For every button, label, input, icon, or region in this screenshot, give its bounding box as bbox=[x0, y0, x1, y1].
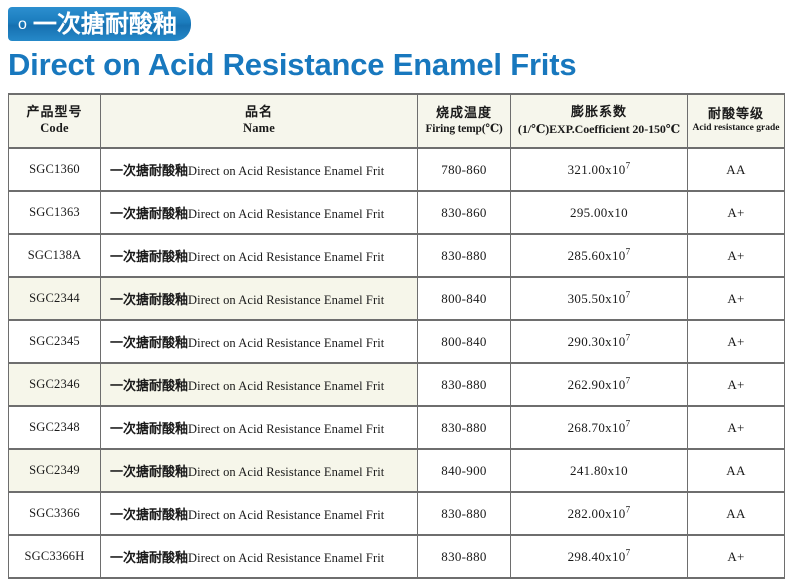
column-header-acid-grade-en: Acid resistance grade bbox=[689, 123, 783, 135]
cell-exp-coefficient: 298.40x107 bbox=[511, 535, 688, 578]
cell-exp-base: 298.40x10 bbox=[568, 549, 626, 564]
cell-name-en: Direct on Acid Resistance Enamel Frit bbox=[188, 422, 384, 436]
bullet-marker-icon: o bbox=[18, 17, 27, 33]
column-header-name: 品名 Name bbox=[101, 94, 418, 148]
table-row: SGC2348一次搪耐酸釉Direct on Acid Resistance E… bbox=[9, 406, 785, 449]
column-header-code: 产品型号 Code bbox=[9, 94, 101, 148]
english-title-text: Direct on Acid Resistance Enamel Frits bbox=[8, 46, 576, 84]
cell-firing-temp: 840-900 bbox=[418, 449, 511, 492]
cell-exp-superscript: 7 bbox=[626, 332, 631, 342]
cell-name: 一次搪耐酸釉Direct on Acid Resistance Enamel F… bbox=[101, 363, 418, 406]
column-header-exp-coefficient-en: (1/℃)EXP.Coefficient 20-150℃ bbox=[512, 122, 686, 137]
cell-firing-temp: 830-880 bbox=[418, 535, 511, 578]
column-header-acid-grade-cn: 耐酸等级 bbox=[689, 107, 783, 123]
cell-exp-base: 268.70x10 bbox=[568, 420, 626, 435]
cell-acid-grade: A+ bbox=[688, 277, 785, 320]
cell-name-cn: 一次搪耐酸釉 bbox=[110, 164, 188, 179]
cell-exp-base: 305.50x10 bbox=[568, 291, 626, 306]
cell-exp-base: 321.00x10 bbox=[568, 162, 626, 177]
cell-name-en: Direct on Acid Resistance Enamel Frit bbox=[188, 465, 384, 479]
column-header-acid-grade: 耐酸等级 Acid resistance grade bbox=[688, 94, 785, 148]
table-row: SGC2349一次搪耐酸釉Direct on Acid Resistance E… bbox=[9, 449, 785, 492]
cell-exp-superscript: 7 bbox=[626, 547, 631, 557]
cell-exp-coefficient: 285.60x107 bbox=[511, 234, 688, 277]
cell-name-cn: 一次搪耐酸釉 bbox=[110, 336, 188, 351]
column-header-exp-coefficient: 膨胀系数 (1/℃)EXP.Coefficient 20-150℃ bbox=[511, 94, 688, 148]
cell-acid-grade: A+ bbox=[688, 363, 785, 406]
cell-name-en: Direct on Acid Resistance Enamel Frit bbox=[188, 207, 384, 221]
cell-name-cn: 一次搪耐酸釉 bbox=[110, 551, 188, 566]
cell-exp-coefficient: 305.50x107 bbox=[511, 277, 688, 320]
cell-name-cn: 一次搪耐酸釉 bbox=[110, 465, 188, 480]
table-row: SGC138A一次搪耐酸釉Direct on Acid Resistance E… bbox=[9, 234, 785, 277]
cell-exp-base: 241.80x10 bbox=[570, 463, 628, 478]
cell-exp-base: 262.90x10 bbox=[568, 377, 626, 392]
column-header-name-en: Name bbox=[102, 121, 416, 137]
cell-exp-superscript: 7 bbox=[626, 246, 631, 256]
cell-exp-base: 282.00x10 bbox=[568, 506, 626, 521]
cell-code: SGC2349 bbox=[9, 449, 101, 492]
cell-exp-coefficient: 290.30x107 bbox=[511, 320, 688, 363]
cell-name-en: Direct on Acid Resistance Enamel Frit bbox=[188, 164, 384, 178]
cell-exp-base: 290.30x10 bbox=[568, 334, 626, 349]
cell-firing-temp: 780-860 bbox=[418, 148, 511, 191]
cell-name: 一次搪耐酸釉Direct on Acid Resistance Enamel F… bbox=[101, 277, 418, 320]
table-row: SGC2344一次搪耐酸釉Direct on Acid Resistance E… bbox=[9, 277, 785, 320]
cell-name-cn: 一次搪耐酸釉 bbox=[110, 293, 188, 308]
cell-firing-temp: 800-840 bbox=[418, 320, 511, 363]
column-header-code-cn: 产品型号 bbox=[10, 105, 99, 121]
cell-exp-superscript: 7 bbox=[626, 289, 631, 299]
product-spec-table: 产品型号 Code 品名 Name 烧成温度 Firing temp(℃) 膨胀… bbox=[8, 93, 785, 579]
cell-exp-superscript: 7 bbox=[626, 160, 631, 170]
cell-code: SGC3366 bbox=[9, 492, 101, 535]
cell-name-en: Direct on Acid Resistance Enamel Frit bbox=[188, 336, 384, 350]
chinese-title-banner: o 一次搪耐酸釉 bbox=[8, 7, 191, 41]
table-row: SGC2346一次搪耐酸釉Direct on Acid Resistance E… bbox=[9, 363, 785, 406]
cell-name-cn: 一次搪耐酸釉 bbox=[110, 250, 188, 265]
cell-name: 一次搪耐酸釉Direct on Acid Resistance Enamel F… bbox=[101, 320, 418, 363]
cell-name-en: Direct on Acid Resistance Enamel Frit bbox=[188, 250, 384, 264]
table-row: SGC2345一次搪耐酸釉Direct on Acid Resistance E… bbox=[9, 320, 785, 363]
cell-code: SGC138A bbox=[9, 234, 101, 277]
cell-exp-superscript: 7 bbox=[626, 375, 631, 385]
cell-firing-temp: 830-880 bbox=[418, 234, 511, 277]
cell-exp-base: 285.60x10 bbox=[568, 248, 626, 263]
cell-firing-temp: 830-880 bbox=[418, 406, 511, 449]
cell-acid-grade: A+ bbox=[688, 191, 785, 234]
cell-name: 一次搪耐酸釉Direct on Acid Resistance Enamel F… bbox=[101, 492, 418, 535]
cell-name-cn: 一次搪耐酸釉 bbox=[110, 207, 188, 222]
cell-acid-grade: A+ bbox=[688, 406, 785, 449]
cell-exp-superscript: 7 bbox=[626, 418, 631, 428]
cell-exp-coefficient: 268.70x107 bbox=[511, 406, 688, 449]
column-header-firing-temp-cn: 烧成温度 bbox=[419, 106, 509, 122]
cell-acid-grade: A+ bbox=[688, 234, 785, 277]
cell-name-en: Direct on Acid Resistance Enamel Frit bbox=[188, 551, 384, 565]
column-header-exp-coefficient-cn: 膨胀系数 bbox=[512, 105, 686, 121]
table-row: SGC3366一次搪耐酸釉Direct on Acid Resistance E… bbox=[9, 492, 785, 535]
cell-name: 一次搪耐酸釉Direct on Acid Resistance Enamel F… bbox=[101, 191, 418, 234]
cell-name-en: Direct on Acid Resistance Enamel Frit bbox=[188, 293, 384, 307]
cell-exp-coefficient: 321.00x107 bbox=[511, 148, 688, 191]
table-header-row: 产品型号 Code 品名 Name 烧成温度 Firing temp(℃) 膨胀… bbox=[9, 94, 785, 148]
cell-name-en: Direct on Acid Resistance Enamel Frit bbox=[188, 508, 384, 522]
cell-code: SGC2345 bbox=[9, 320, 101, 363]
cell-name-cn: 一次搪耐酸釉 bbox=[110, 422, 188, 437]
cell-name: 一次搪耐酸釉Direct on Acid Resistance Enamel F… bbox=[101, 406, 418, 449]
cell-acid-grade: A+ bbox=[688, 320, 785, 363]
cell-code: SGC2346 bbox=[9, 363, 101, 406]
cell-name: 一次搪耐酸釉Direct on Acid Resistance Enamel F… bbox=[101, 148, 418, 191]
cell-firing-temp: 830-880 bbox=[418, 363, 511, 406]
cell-name-cn: 一次搪耐酸釉 bbox=[110, 508, 188, 523]
table-row: SGC3366H一次搪耐酸釉Direct on Acid Resistance … bbox=[9, 535, 785, 578]
cell-code: SGC1363 bbox=[9, 191, 101, 234]
column-header-firing-temp: 烧成温度 Firing temp(℃) bbox=[418, 94, 511, 148]
cell-acid-grade: AA bbox=[688, 148, 785, 191]
column-header-code-en: Code bbox=[10, 121, 99, 137]
table-body: SGC1360一次搪耐酸釉Direct on Acid Resistance E… bbox=[9, 148, 785, 578]
cell-code: SGC3366H bbox=[9, 535, 101, 578]
cell-acid-grade: AA bbox=[688, 492, 785, 535]
cell-name: 一次搪耐酸釉Direct on Acid Resistance Enamel F… bbox=[101, 449, 418, 492]
cell-code: SGC2344 bbox=[9, 277, 101, 320]
column-header-firing-temp-en: Firing temp(℃) bbox=[419, 122, 509, 136]
cell-exp-coefficient: 295.00x10 bbox=[511, 191, 688, 234]
cell-firing-temp: 800-840 bbox=[418, 277, 511, 320]
cell-exp-coefficient: 282.00x107 bbox=[511, 492, 688, 535]
cell-exp-base: 295.00x10 bbox=[570, 205, 628, 220]
cell-code: SGC1360 bbox=[9, 148, 101, 191]
cell-name: 一次搪耐酸釉Direct on Acid Resistance Enamel F… bbox=[101, 535, 418, 578]
table-row: SGC1360一次搪耐酸釉Direct on Acid Resistance E… bbox=[9, 148, 785, 191]
column-header-name-cn: 品名 bbox=[102, 105, 416, 121]
cell-firing-temp: 830-860 bbox=[418, 191, 511, 234]
cell-exp-coefficient: 262.90x107 bbox=[511, 363, 688, 406]
cell-name: 一次搪耐酸釉Direct on Acid Resistance Enamel F… bbox=[101, 234, 418, 277]
cell-code: SGC2348 bbox=[9, 406, 101, 449]
cell-exp-superscript: 7 bbox=[626, 504, 631, 514]
chinese-title-text: 一次搪耐酸釉 bbox=[33, 12, 177, 36]
cell-name-cn: 一次搪耐酸釉 bbox=[110, 379, 188, 394]
cell-name-en: Direct on Acid Resistance Enamel Frit bbox=[188, 379, 384, 393]
table-row: SGC1363一次搪耐酸釉Direct on Acid Resistance E… bbox=[9, 191, 785, 234]
table-header: 产品型号 Code 品名 Name 烧成温度 Firing temp(℃) 膨胀… bbox=[9, 94, 785, 148]
cell-acid-grade: AA bbox=[688, 449, 785, 492]
cell-firing-temp: 830-880 bbox=[418, 492, 511, 535]
cell-exp-coefficient: 241.80x10 bbox=[511, 449, 688, 492]
cell-acid-grade: A+ bbox=[688, 535, 785, 578]
